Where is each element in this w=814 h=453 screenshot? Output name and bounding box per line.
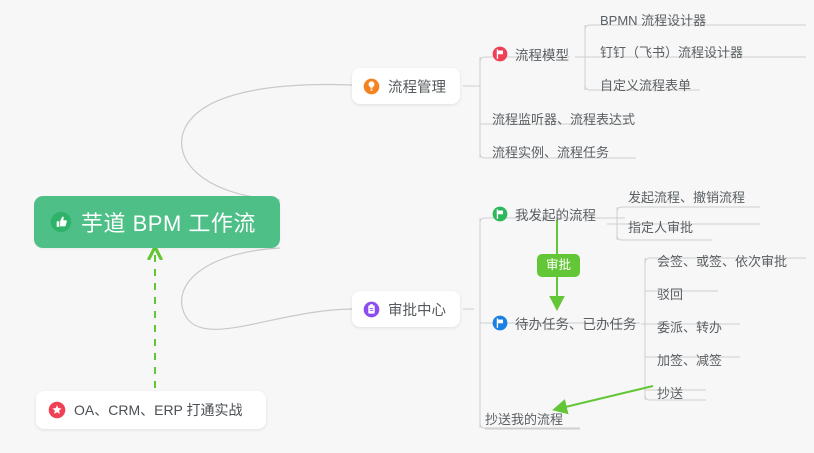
- leaf-bpmn-designer[interactable]: BPMN 流程设计器: [600, 11, 706, 31]
- branch-label: 流程管理: [388, 76, 446, 97]
- leaf-add-remove-sign[interactable]: 加签、减签: [657, 351, 722, 371]
- node-label: 我发起的流程: [515, 204, 596, 224]
- flag-icon: [492, 315, 508, 331]
- root-node[interactable]: 芋道 BPM 工作流: [34, 196, 280, 248]
- node-my-initiated-process[interactable]: 我发起的流程: [492, 203, 596, 225]
- leaf-delegate-transfer[interactable]: 委派、转办: [657, 318, 722, 338]
- clipboard-icon: [363, 301, 380, 318]
- leaf-cc[interactable]: 抄送: [657, 384, 683, 404]
- leaf-assignee-approval[interactable]: 指定人审批: [628, 218, 693, 238]
- node-process-model[interactable]: 流程模型: [492, 43, 569, 65]
- node-todo-done-tasks[interactable]: 待办任务、已办任务: [492, 312, 637, 334]
- leaf-countersign[interactable]: 会签、或签、依次审批: [657, 252, 787, 272]
- callout-box[interactable]: OA、CRM、ERP 打通实战: [36, 391, 266, 429]
- leaf-cc-to-me[interactable]: 抄送我的流程: [485, 410, 563, 430]
- branch-node-approval-center[interactable]: 审批中心: [352, 291, 460, 327]
- root-label: 芋道 BPM 工作流: [81, 206, 256, 238]
- flag-icon: [492, 46, 508, 62]
- leaf-dingtalk-designer[interactable]: 钉钉（飞书）流程设计器: [600, 43, 743, 63]
- leaf-custom-form[interactable]: 自定义流程表单: [600, 76, 691, 96]
- leaf-reject[interactable]: 驳回: [657, 285, 683, 305]
- node-label: 流程模型: [515, 44, 569, 64]
- leaf-start-cancel-process[interactable]: 发起流程、撤销流程: [628, 188, 745, 208]
- node-label: 待办任务、已办任务: [515, 313, 637, 333]
- approval-chip: 审批: [537, 254, 580, 277]
- branch-node-process-management[interactable]: 流程管理: [352, 68, 460, 104]
- branch-label: 审批中心: [388, 299, 446, 320]
- leaf-process-instance[interactable]: 流程实例、流程任务: [492, 143, 609, 163]
- leaf-process-listener[interactable]: 流程监听器、流程表达式: [492, 110, 635, 130]
- thumbs-up-icon: [50, 211, 72, 233]
- flag-icon: [492, 206, 508, 222]
- star-badge-icon: [48, 401, 66, 419]
- lightbulb-icon: [363, 78, 380, 95]
- cc-flow-arrow: [557, 386, 653, 409]
- callout-label: OA、CRM、ERP 打通实战: [74, 400, 243, 420]
- mindmap-canvas: 芋道 BPM 工作流 流程管理 流程模型 BPMN 流程设计器 钉钉（飞书）流程…: [0, 0, 814, 453]
